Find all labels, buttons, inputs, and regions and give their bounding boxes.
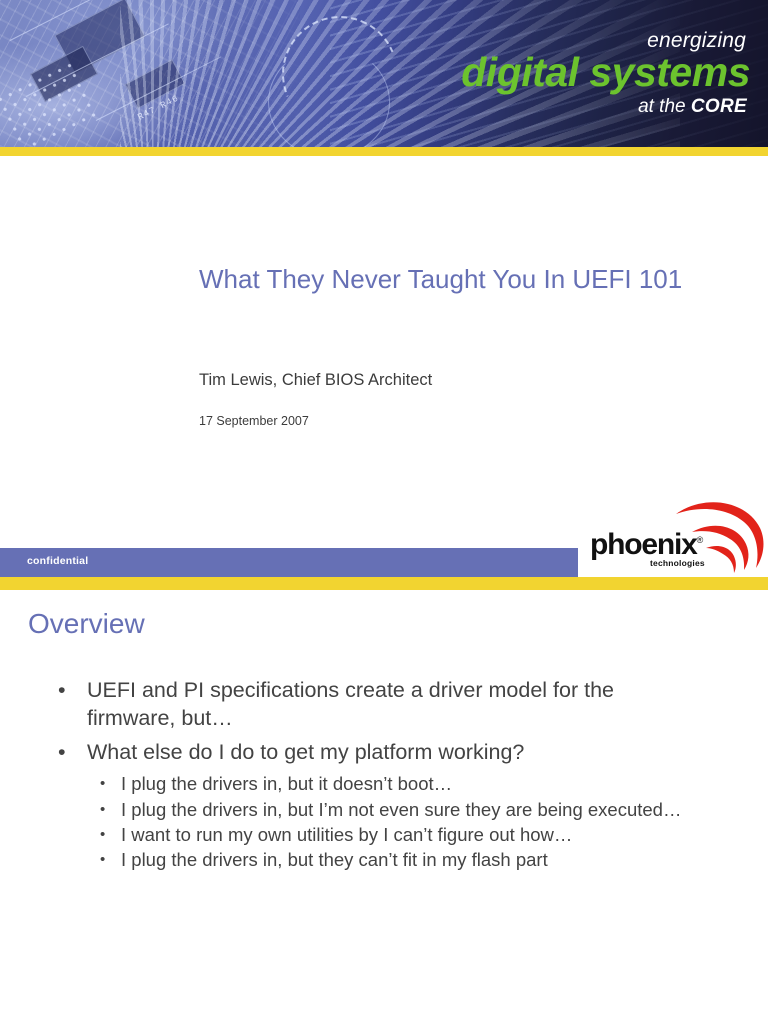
list-item: • I want to run my own utilities by I ca…	[0, 823, 768, 847]
divider-yellow-top	[0, 147, 768, 156]
presentation-date: 17 September 2007	[199, 414, 309, 428]
tagline-core-emphasis: CORE	[691, 96, 747, 117]
phoenix-wordmark-text: phoenix	[590, 528, 697, 561]
list-item: • I plug the drivers in, but they can’t …	[0, 848, 768, 872]
bullet-marker-icon: •	[58, 738, 80, 766]
registered-mark-icon: ®	[697, 535, 702, 545]
list-item: • I plug the drivers in, but it doesn’t …	[0, 772, 768, 796]
tagline-at-the-core: at the CORE	[461, 97, 747, 116]
list-item-label: UEFI and PI specifications create a driv…	[58, 676, 698, 732]
list-item-label: What else do I do to get my platform wor…	[58, 738, 524, 766]
phoenix-logo: phoenix® technologies	[578, 498, 768, 578]
tagline-core-prefix: at the	[638, 96, 691, 117]
overview-heading: Overview	[28, 608, 145, 640]
title-block: What They Never Taught You In UEFI 101	[199, 262, 719, 297]
list-item-label: I plug the drivers in, but it doesn’t bo…	[100, 772, 708, 796]
phoenix-wordmark: phoenix®	[590, 530, 702, 560]
overview-bullet-list: • UEFI and PI specifications create a dr…	[0, 676, 768, 873]
list-item: • UEFI and PI specifications create a dr…	[0, 676, 768, 732]
bullet-marker-icon: •	[100, 798, 118, 821]
list-item-label: I plug the drivers in, but they can’t fi…	[100, 848, 708, 872]
overview-sub-bullet-list: • I plug the drivers in, but it doesn’t …	[0, 772, 768, 871]
list-item-label: I plug the drivers in, but I’m not even …	[100, 798, 708, 822]
brand-tagline: energizing digital systems at the CORE	[461, 30, 750, 116]
banner-arc	[268, 46, 390, 147]
list-item: • I plug the drivers in, but I’m not eve…	[0, 798, 768, 822]
bullet-marker-icon: •	[100, 848, 118, 871]
phoenix-logo-subtitle: technologies	[650, 558, 705, 568]
tagline-energizing: energizing	[461, 30, 746, 51]
bullet-marker-icon: •	[100, 772, 118, 795]
title-slide: R47 R46 energizing digital systems at th…	[0, 0, 768, 590]
overview-slide: Overview • UEFI and PI specifications cr…	[0, 590, 768, 1024]
list-item: • What else do I do to get my platform w…	[0, 738, 768, 766]
brand-banner: R47 R46 energizing digital systems at th…	[0, 0, 768, 147]
bullet-marker-icon: •	[58, 676, 80, 704]
list-item-label: I want to run my own utilities by I can’…	[100, 823, 708, 847]
bullet-marker-icon: •	[100, 823, 118, 846]
divider-yellow-bottom	[0, 577, 768, 590]
confidential-label: confidential	[27, 555, 88, 567]
presenter-name: Tim Lewis, Chief BIOS Architect	[199, 371, 432, 390]
tagline-digital-systems: digital systems	[461, 52, 750, 93]
page-title: What They Never Taught You In UEFI 101	[199, 262, 719, 297]
